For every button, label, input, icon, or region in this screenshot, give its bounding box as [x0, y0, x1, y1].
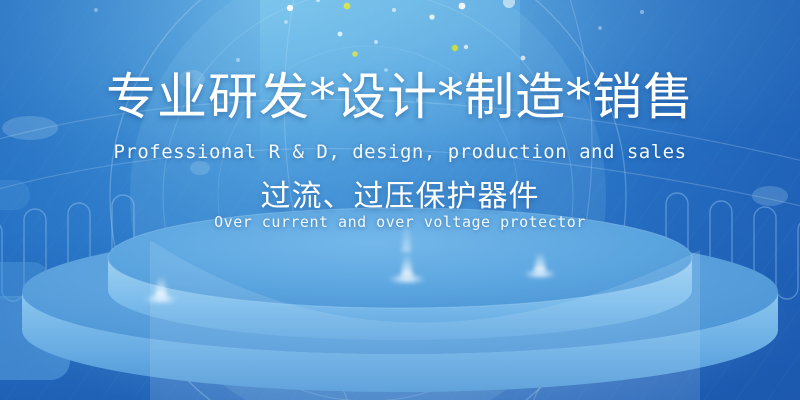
subtitle-chinese: 过流、过压保护器件 — [0, 178, 800, 216]
promo-banner: 专业研发*设计*制造*销售 Professional R & D, design… — [0, 0, 800, 400]
subtitle-english: Over current and over voltage protector — [0, 212, 800, 232]
banner-text-block: 专业研发*设计*制造*销售 Professional R & D, design… — [0, 0, 800, 400]
headline-chinese: 专业研发*设计*制造*销售 — [0, 68, 800, 126]
headline-english: Professional R & D, design, production a… — [0, 140, 800, 164]
